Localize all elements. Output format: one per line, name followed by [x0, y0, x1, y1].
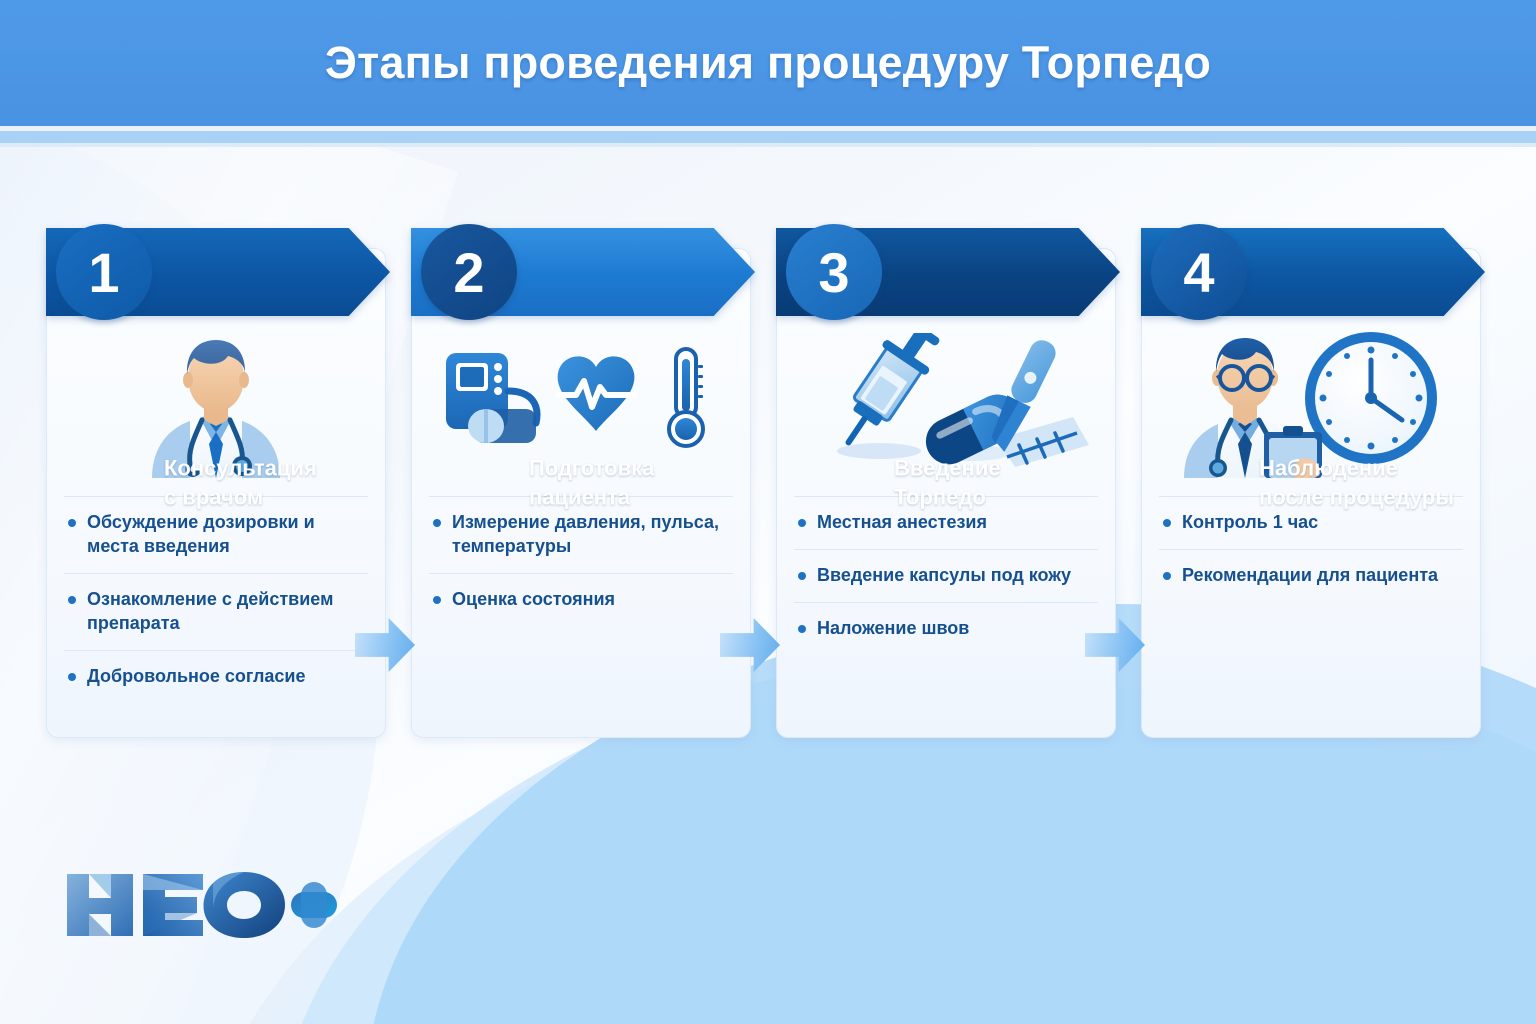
bullet-text: Измерение давления, пульса, температуры: [452, 511, 727, 559]
bullet-dot-icon: [433, 519, 441, 527]
bullet-dot-icon: [798, 519, 806, 527]
list-item: Наложение швов: [794, 603, 1098, 655]
step-card-4[interactable]: 4 Наблюдение после процедуры: [1141, 228, 1481, 738]
step-1-bullet-list: Обсуждение дозировки и места введения Оз…: [64, 496, 368, 703]
step-title-1: Консультация с врачом: [164, 454, 364, 511]
bullet-text: Контроль 1 час: [1182, 511, 1318, 535]
step-title-2: Подготовка пациента: [529, 454, 729, 511]
step-title-3: Введение Торпедо: [894, 454, 1094, 511]
bullet-dot-icon: [798, 625, 806, 633]
step-title-4-line1: Наблюдение: [1259, 454, 1474, 483]
list-item: Ознакомление с действием препарата: [64, 574, 368, 651]
arrow-step-1-to-2: [355, 618, 415, 672]
header-divider-band: [0, 131, 1536, 143]
step-title-4: Наблюдение после процедуры: [1259, 454, 1474, 511]
brand-logo[interactable]: [63, 868, 338, 940]
bullet-text: Оценка состояния: [452, 588, 615, 612]
bullet-text: Наложение швов: [817, 617, 969, 641]
step-title-2-line2: пациента: [529, 483, 729, 512]
bullet-dot-icon: [68, 596, 76, 604]
step-title-1-line1: Консультация: [164, 454, 364, 483]
step-number-badge-3: 3: [786, 224, 882, 320]
header-divider-bottom: [0, 143, 1536, 147]
step-card-2[interactable]: 2 Подготовка пациента: [411, 228, 751, 738]
bullet-dot-icon: [433, 596, 441, 604]
step-title-3-line2: Торпедо: [894, 483, 1094, 512]
bullet-text: Местная анестезия: [817, 511, 987, 535]
bullet-dot-icon: [798, 572, 806, 580]
steps-container: 1 Консультация с врачом: [0, 228, 1536, 748]
bullet-dot-icon: [68, 519, 76, 527]
step-number-badge-2: 2: [421, 224, 517, 320]
list-item: Оценка состояния: [429, 574, 733, 626]
step-4-bullet-list: Контроль 1 час Рекомендации для пациента: [1159, 496, 1463, 602]
page-title: Этапы проведения процедуру Торпедо: [325, 37, 1211, 89]
neo-plus-logo-icon: [63, 868, 338, 940]
bullet-text: Рекомендации для пациента: [1182, 564, 1438, 588]
step-title-4-line2: после процедуры: [1259, 483, 1474, 512]
step-title-1-line2: с врачом: [164, 483, 364, 512]
page-header: Этапы проведения процедуру Торпедо: [0, 0, 1536, 126]
bullet-text: Обсуждение дозировки и места введения: [87, 511, 362, 559]
step-number-badge-4: 4: [1151, 224, 1247, 320]
step-card-1[interactable]: 1 Консультация с врачом: [46, 228, 386, 738]
step-title-3-line1: Введение: [894, 454, 1094, 483]
step-card-3[interactable]: 3 Введение Торпедо: [776, 228, 1116, 738]
arrow-step-3-to-4: [1085, 618, 1145, 672]
step-2-bullet-list: Измерение давления, пульса, температуры …: [429, 496, 733, 626]
bullet-text: Введение капсулы под кожу: [817, 564, 1071, 588]
arrow-step-2-to-3: [720, 618, 780, 672]
bullet-dot-icon: [68, 673, 76, 681]
bullet-dot-icon: [1163, 572, 1171, 580]
step-title-2-line1: Подготовка: [529, 454, 729, 483]
bullet-dot-icon: [1163, 519, 1171, 527]
bullet-text: Добровольное согласие: [87, 665, 306, 689]
list-item: Рекомендации для пациента: [1159, 550, 1463, 602]
step-3-bullet-list: Местная анестезия Введение капсулы под к…: [794, 496, 1098, 655]
step-number-badge-1: 1: [56, 224, 152, 320]
list-item: Введение капсулы под кожу: [794, 550, 1098, 603]
bullet-text: Ознакомление с действием препарата: [87, 588, 362, 636]
list-item: Добровольное согласие: [64, 651, 368, 703]
